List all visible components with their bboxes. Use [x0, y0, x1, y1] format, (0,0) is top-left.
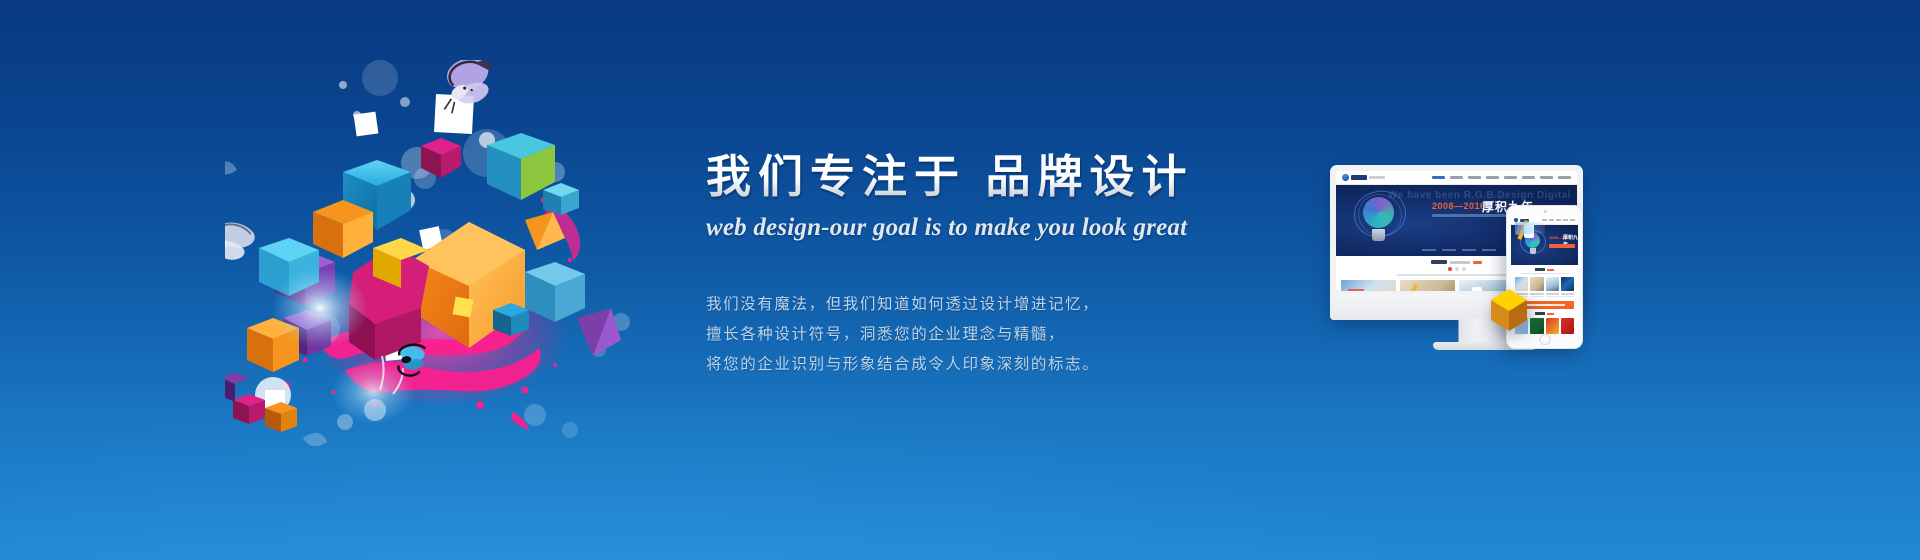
nav-item-about: [1450, 176, 1463, 179]
nav-item-contact: [1558, 176, 1571, 179]
tablet-nav-menu: [1542, 219, 1575, 221]
preview-section-desc: [1397, 274, 1517, 276]
butterfly-left: [225, 217, 257, 267]
tablet-card-2: [1530, 277, 1543, 297]
hero-body-copy: 我们没有魔法，但我们知道如何透过设计增进记忆， 擅长各种设计符号，洞悉您的企业理…: [706, 290, 1346, 380]
logo-mark-icon: [1342, 174, 1349, 181]
artwork-svg: [225, 60, 645, 460]
nav-item-join: [1540, 176, 1553, 179]
logo-wordmark: [1351, 175, 1367, 180]
tablet-banner-4: [1561, 318, 1574, 334]
preview-navbar: [1336, 171, 1577, 185]
preview-card-2: [1400, 280, 1455, 291]
lightbulb-globe-icon: [1352, 193, 1406, 251]
preview-hero-pagination: [1422, 249, 1496, 251]
page-title: 我们专注于 品牌设计: [706, 150, 1346, 204]
cube-orange-left: [313, 200, 373, 258]
tablet-banner-3: [1546, 318, 1559, 334]
body-line-1: 我们没有魔法，但我们知道如何透过设计增进记忆，: [706, 290, 1346, 320]
nav-item-home: [1432, 176, 1445, 179]
preview-nav-menu: [1432, 176, 1571, 179]
tablet-hero-bar: [1549, 244, 1575, 248]
logo-tagline: [1369, 176, 1385, 179]
body-line-2: 擅长各种设计符号，洞悉您的企业理念与精髓，: [706, 320, 1346, 350]
nav-item-case: [1486, 176, 1499, 179]
nav-item-team: [1522, 176, 1535, 179]
preview-logo: [1342, 174, 1385, 181]
tablet-card-4: [1561, 277, 1574, 297]
preview-card-1: [1341, 280, 1396, 291]
orange-3d-cube: [1487, 287, 1531, 333]
hero-text-block: 我们专注于 品牌设计 web design-our goal is to mak…: [706, 150, 1346, 380]
pyramid-purple-right: [577, 308, 621, 356]
home-button-icon[interactable]: [1539, 334, 1550, 345]
tablet-card-3: [1546, 277, 1559, 297]
front-camera-icon: [1543, 210, 1546, 213]
abstract-artwork: [225, 60, 645, 460]
nav-item-service: [1468, 176, 1481, 179]
preview-hero-ghost-text: We have been R.G.B.Design Digital: [1388, 190, 1571, 201]
nav-item-news: [1504, 176, 1517, 179]
tablet-banner-2: [1530, 318, 1543, 334]
device-mockups: We have been R.G.B.Design Digital 2008—2…: [1330, 165, 1640, 395]
hero-subtitle: web design-our goal is to make you look …: [706, 214, 1346, 242]
preview-hero-year: 2008—2016: [1432, 201, 1486, 211]
hero-banner: 我们专注于 品牌设计 web design-our goal is to mak…: [0, 0, 1920, 560]
body-line-3: 将您的企业识别与形象结合成令人印象深刻的标志。: [706, 350, 1346, 380]
cube-cyan-right-small: [543, 183, 579, 215]
